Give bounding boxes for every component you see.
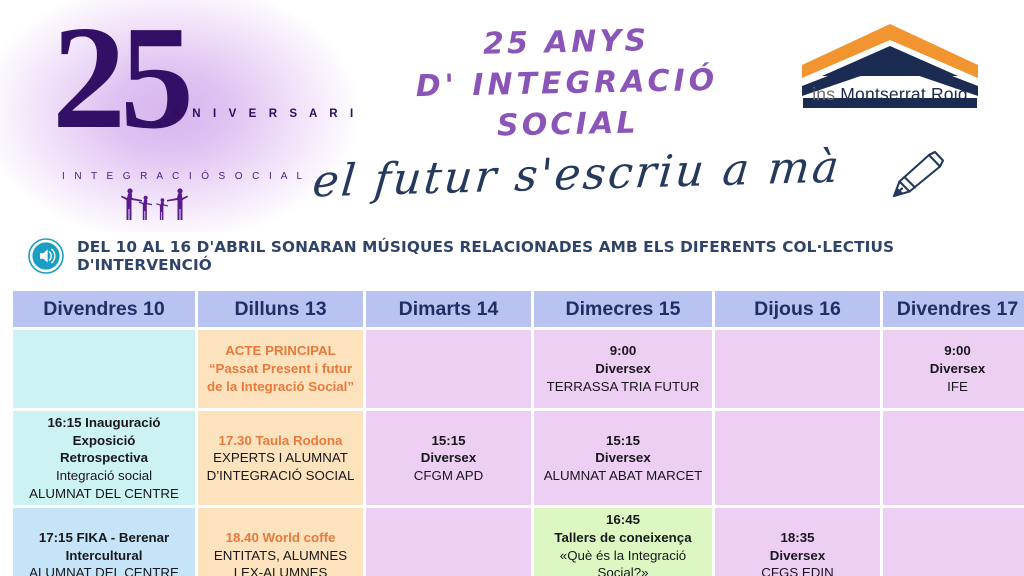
- tagline: el futur s'escriu a mà: [309, 140, 915, 223]
- notice-bar: DEL 10 AL 16 D'ABRIL SONARAN MÚSIQUES RE…: [0, 232, 1024, 280]
- schedule-cell-r2-c3[interactable]: 15:15DiversexCFGM APD: [366, 411, 531, 505]
- schedule-cell-line: 17.30 Taula Rodona: [202, 432, 359, 450]
- schedule-cell-line: Retrospectiva: [17, 449, 191, 467]
- schedule-table: Divendres 10Dilluns 13Dimarts 14Dimecres…: [10, 288, 1024, 576]
- schedule-cell-line: D’INTEGRACIÓ SOCIAL: [202, 467, 359, 485]
- schedule-header-row: Divendres 10Dilluns 13Dimarts 14Dimecres…: [13, 291, 1024, 327]
- schedule-cell-line: I EX-ALUMNES: [202, 564, 359, 576]
- schedule-cell-line: 15:15: [538, 432, 708, 450]
- schedule-cell-r2-c6: [883, 411, 1024, 505]
- schedule-row: ACTE PRINCIPAL“Passat Present i futurde …: [13, 330, 1024, 408]
- schedule-cell-r1-c6[interactable]: 9:00DiversexIFE: [883, 330, 1024, 408]
- schedule-header-4: Dimecres 15: [534, 291, 712, 327]
- schedule-cell-line: ACTE PRINCIPAL: [202, 342, 359, 360]
- title-line-3: SOCIAL: [392, 101, 743, 149]
- schedule-cell-line: TERRASSA TRIA FUTUR: [538, 378, 708, 396]
- schedule-cell-line: 17:15 FIKA - Berenar: [17, 529, 191, 547]
- poster-header: 25 A N I V E R S A R I I N T E G R A C I…: [0, 0, 1024, 232]
- people-holding-hands-icon: [120, 188, 196, 222]
- schedule-cell-r1-c1: [13, 330, 195, 408]
- schedule-body: ACTE PRINCIPAL“Passat Present i futurde …: [13, 330, 1024, 576]
- schedule-cell-r1-c5: [715, 330, 880, 408]
- schedule-cell-line: ALUMNAT DEL CENTRE: [17, 564, 191, 576]
- schedule-cell-r1-c3: [366, 330, 531, 408]
- schedule-header-1: Divendres 10: [13, 291, 195, 327]
- schedule-cell-line: Diversex: [719, 547, 876, 565]
- speaker-icon: [28, 238, 64, 274]
- schedule-cell-line: de la Integració Social”: [202, 378, 359, 396]
- schedule-cell-r2-c1[interactable]: 16:15 Inauguració ExposicióRetrospectiva…: [13, 411, 195, 505]
- schedule-cell-line: CFGS EDIN: [719, 564, 876, 576]
- schedule-cell-r2-c2[interactable]: 17.30 Taula RodonaEXPERTS I ALUMNATD’INT…: [198, 411, 363, 505]
- anniversary-logo: 25 A N I V E R S A R I I N T E G R A C I…: [0, 0, 360, 232]
- schedule-cell-r3-c6: [883, 508, 1024, 576]
- schedule-cell-line: “Passat Present i futur: [202, 360, 359, 378]
- schedule-header-5: Dijous 16: [715, 291, 880, 327]
- schedule-header-3: Dimarts 14: [366, 291, 531, 327]
- schedule-cell-line: Diversex: [538, 360, 708, 378]
- schedule-header-2: Dilluns 13: [198, 291, 363, 327]
- schedule-cell-line: 18.40 World coffe: [202, 529, 359, 547]
- schedule-cell-r3-c2[interactable]: 18.40 World coffeENTITATS, ALUMNESI EX-A…: [198, 508, 363, 576]
- institute-name: ins Montserrat Roig: [790, 84, 990, 105]
- schedule-cell-r1-c2[interactable]: ACTE PRINCIPAL“Passat Present i futurde …: [198, 330, 363, 408]
- pencil-icon: [884, 148, 952, 208]
- anniversary-number: 25: [52, 4, 188, 152]
- schedule-cell-line: ALUMNAT DEL CENTRE: [17, 485, 191, 503]
- schedule-cell-line: 15:15: [370, 432, 527, 450]
- schedule-cell-line: IFE: [887, 378, 1024, 396]
- schedule-cell-line: 18:35: [719, 529, 876, 547]
- schedule-cell-line: 16:45: [538, 511, 708, 529]
- title-line-2: D' INTEGRACIÓ: [392, 59, 743, 107]
- schedule-cell-line: 9:00: [538, 342, 708, 360]
- schedule-cell-line: Diversex: [370, 449, 527, 467]
- schedule-cell-line: Integració social: [17, 467, 191, 485]
- schedule-cell-line: ALUMNAT ABAT MARCET: [538, 467, 708, 485]
- institute-title: Montserrat Roig: [840, 84, 968, 104]
- schedule-cell-line: Intercultural: [17, 547, 191, 565]
- anniversary-subtitle: I N T E G R A C I Ó S O C I A L: [62, 171, 305, 182]
- notice-text: DEL 10 AL 16 D'ABRIL SONARAN MÚSIQUES RE…: [77, 238, 1024, 274]
- schedule-cell-line: «Què és la Integració Social?»: [538, 547, 708, 576]
- schedule-cell-r3-c3: [366, 508, 531, 576]
- schedule-cell-line: Diversex: [538, 449, 708, 467]
- schedule-cell-line: CFGM APD: [370, 467, 527, 485]
- schedule-cell-line: Tallers de coneixença: [538, 529, 708, 547]
- schedule-cell-r1-c4[interactable]: 9:00DiversexTERRASSA TRIA FUTUR: [534, 330, 712, 408]
- anniversary-label: A N I V E R S A R I: [172, 108, 358, 120]
- page-title: 25 ANYS D' INTEGRACIÓ SOCIAL: [391, 18, 744, 149]
- title-line-1: 25 ANYS: [391, 18, 742, 66]
- schedule-cell-r3-c1[interactable]: 17:15 FIKA - BerenarInterculturalALUMNAT…: [13, 508, 195, 576]
- schedule-row: 17:15 FIKA - BerenarInterculturalALUMNAT…: [13, 508, 1024, 576]
- schedule-cell-line: Diversex: [887, 360, 1024, 378]
- schedule-row: 16:15 Inauguració ExposicióRetrospectiva…: [13, 411, 1024, 505]
- schedule-cell-r3-c4[interactable]: 16:45Tallers de coneixença«Què és la Int…: [534, 508, 712, 576]
- schedule-cell-r3-c5[interactable]: 18:35DiversexCFGS EDIN: [715, 508, 880, 576]
- schedule-header-6: Divendres 17: [883, 291, 1024, 327]
- institute-prefix: ins: [812, 84, 840, 104]
- poster-page: 25 A N I V E R S A R I I N T E G R A C I…: [0, 0, 1024, 576]
- schedule-cell-r2-c5: [715, 411, 880, 505]
- schedule-cell-line: EXPERTS I ALUMNAT: [202, 449, 359, 467]
- schedule-cell-r2-c4[interactable]: 15:15DiversexALUMNAT ABAT MARCET: [534, 411, 712, 505]
- schedule-cell-line: ENTITATS, ALUMNES: [202, 547, 359, 565]
- schedule-cell-line: 16:15 Inauguració Exposició: [17, 414, 191, 449]
- schedule-cell-line: 9:00: [887, 342, 1024, 360]
